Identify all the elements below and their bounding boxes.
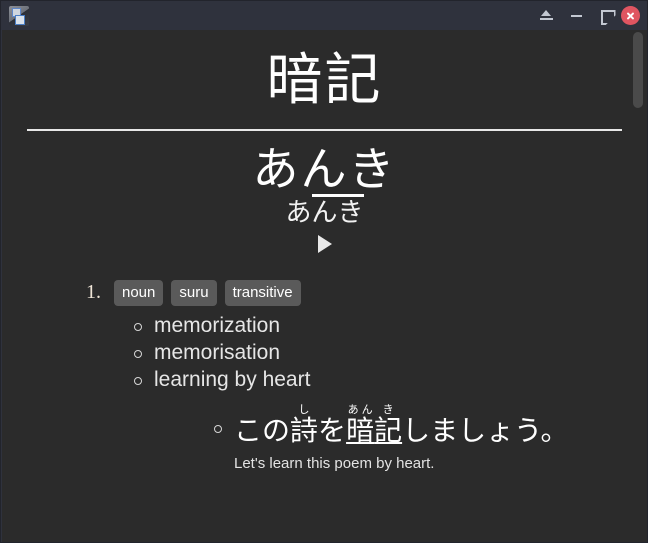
maximize-button[interactable] xyxy=(591,1,621,30)
example-segment: 詩し xyxy=(290,414,318,447)
example-segment: ょ xyxy=(486,414,514,447)
eject-icon xyxy=(540,10,553,21)
furigana: し xyxy=(290,403,318,416)
gloss-item: learning by heart xyxy=(132,366,647,393)
sense-number: 1. xyxy=(86,281,106,304)
play-audio-button[interactable] xyxy=(318,235,332,253)
example-segment: を xyxy=(318,414,346,447)
tag-noun[interactable]: noun xyxy=(114,280,163,306)
headword: 暗記 xyxy=(2,49,647,113)
minimize-icon xyxy=(571,15,582,17)
gloss-item: memorisation xyxy=(132,339,647,366)
example-segment: 。 xyxy=(540,414,568,447)
dictionary-entry-panel: 暗記 あんき あんき 1. noun suru transitive memor… xyxy=(2,30,647,542)
app-icon xyxy=(9,6,29,26)
example-segment: の xyxy=(262,414,290,447)
scrollbar-track[interactable] xyxy=(631,30,644,542)
example-segment: ま xyxy=(430,414,458,447)
example-block: この詩しを暗あん記きしましょう。 Let's learn this poem b… xyxy=(86,403,647,474)
pitch-accent-high: んき xyxy=(312,194,364,229)
example-keyword: 暗あん xyxy=(346,414,374,447)
example-translation: Let's learn this poem by heart. xyxy=(216,454,647,474)
audio-row xyxy=(2,235,647,258)
example-segment: こ xyxy=(234,414,262,447)
furigana: あん xyxy=(346,403,374,416)
minimize-button[interactable] xyxy=(561,1,591,30)
tag-transitive[interactable]: transitive xyxy=(225,280,301,306)
divider xyxy=(27,129,622,131)
example-segment: し xyxy=(458,414,486,447)
pitch-accent: あんき xyxy=(285,198,363,229)
gloss-item: memorization xyxy=(132,312,647,339)
close-icon xyxy=(626,11,635,20)
example-segment: し xyxy=(402,414,430,447)
application-window: 暗記 あんき あんき 1. noun suru transitive memor… xyxy=(0,0,648,543)
example-sentence: この詩しを暗あん記きしましょう。 xyxy=(216,403,647,452)
sense-header: 1. noun suru transitive xyxy=(86,280,647,305)
tag-suru[interactable]: suru xyxy=(171,280,216,306)
reading-kana: あんき xyxy=(2,143,647,196)
close-button[interactable] xyxy=(621,6,640,25)
gloss-list: memorization memorisation learning by he… xyxy=(86,312,647,393)
example-keyword: 記き xyxy=(374,414,402,447)
maximize-icon xyxy=(601,10,612,21)
title-bar xyxy=(1,1,648,30)
always-on-top-button[interactable] xyxy=(531,1,561,30)
pitch-accent-row: あんき xyxy=(2,198,647,229)
pitch-accent-low: あ xyxy=(285,198,311,229)
scrollbar-thumb[interactable] xyxy=(633,32,643,108)
furigana: き xyxy=(374,403,402,416)
example-segment: う xyxy=(514,414,540,447)
sense-block: 1. noun suru transitive memorization mem… xyxy=(2,280,647,474)
